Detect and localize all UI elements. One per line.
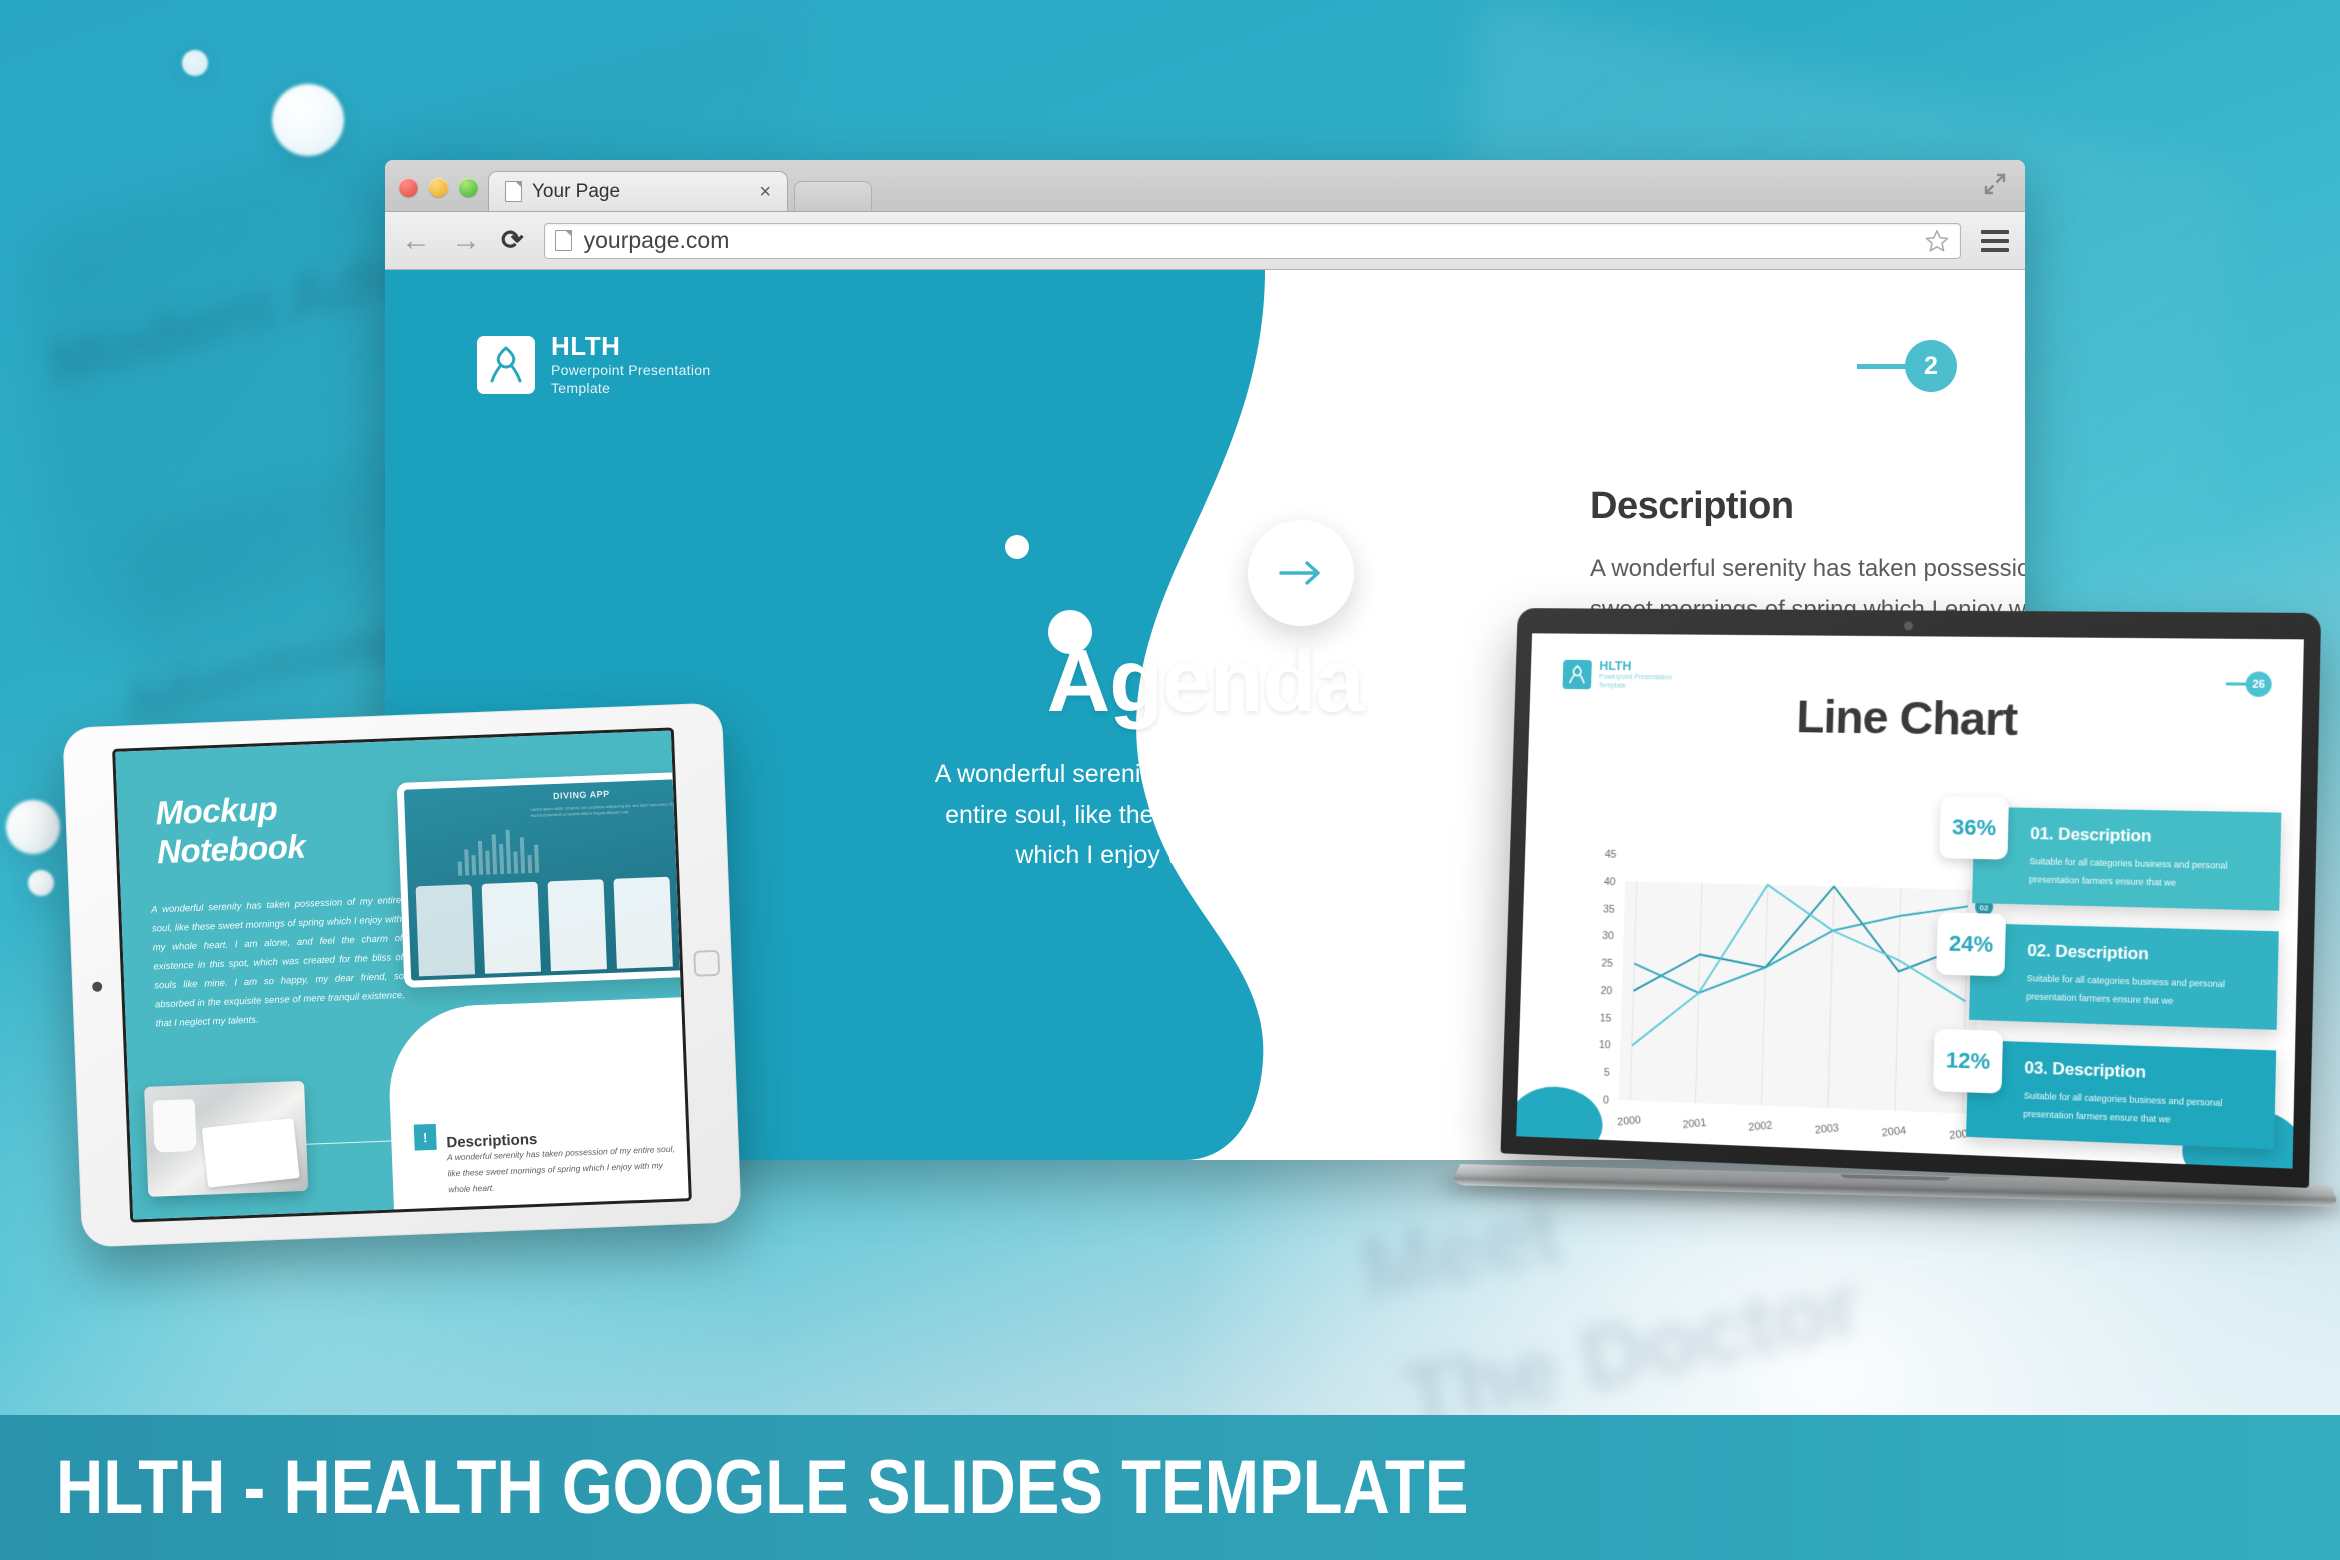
forward-button[interactable]: → [451,226,481,256]
legend-card-title: 01. Description [2030,824,2264,849]
logo-name: HLTH [1599,659,1672,674]
address-bar[interactable]: yourpage.com [544,223,1961,259]
legend-card-title: 03. Description [2024,1058,2259,1087]
mockup-notebook-slide: Mockup Notebook A wonderful serenity has… [115,731,689,1220]
inner-phone-screen [548,879,607,971]
bokeh-circle [182,50,208,76]
legend-card-body: Suitable for all categories business and… [2029,852,2264,894]
close-icon[interactable]: × [741,182,771,202]
inner-laptop-screen: DIVING APP Lorem ipsum dolor sit amet, c… [404,779,689,981]
camera-icon [1904,621,1913,630]
reload-button[interactable]: ⟳ [501,227,524,254]
page-number-value: 26 [2245,671,2272,697]
legend-card[interactable]: 24% 02. Description Suitable for all cat… [1969,923,2279,1030]
camera-icon [92,982,102,992]
inner-phone-screen [416,884,475,976]
inner-phone-screen [613,877,672,969]
y-tick-label: 20 [1600,985,1612,997]
slide-logo: HLTH Powerpoint Presentation Template [477,332,710,398]
laptop-lid: HLTH Powerpoint Presentation Template Li… [1501,608,2322,1188]
ribbon-logo-icon [1562,660,1591,689]
browser-toolbar: ← → ⟳ yourpage.com [385,212,2025,270]
banner-title: HLTH - HEALTH GOOGLE SLIDES TEMPLATE [56,1444,1468,1531]
decorative-circle [1048,610,1092,654]
x-tick-label: 2001 [1682,1117,1707,1132]
agenda-subtitle: A wonderful serenity has taken possessio… [925,754,1485,876]
mockup-title: Mockup Notebook [155,789,306,873]
page-number-badge: 26 [2226,671,2272,697]
y-tick-label: 45 [1605,849,1617,861]
page-file-icon [505,181,522,202]
y-tick-label: 35 [1603,903,1615,915]
x-tick-label: 2000 [1617,1114,1642,1128]
y-tick-label: 0 [1603,1094,1609,1106]
line-chart-slide: HLTH Powerpoint Presentation Template Li… [1516,633,2304,1168]
line-chart: 0510152025303540452000200120022003200420… [1569,824,2010,1166]
url-text: yourpage.com [584,227,1912,254]
browser-tab-strip: Your Page × [385,160,2025,212]
mockup-title-line2: Notebook [156,828,306,873]
description-heading: Description [1590,485,2025,528]
percent-badge: 36% [1939,796,2009,860]
bokeh-circle [272,84,344,156]
y-tick-label: 10 [1599,1039,1611,1051]
y-tick-label: 30 [1602,930,1614,942]
logo-subtitle-1: Powerpoint Presentation [551,361,710,380]
bokeh-circle [6,800,60,854]
page-number-value: 2 [1905,340,1957,392]
bottom-banner: HLTH - HEALTH GOOGLE SLIDES TEMPLATE [0,1415,2340,1560]
exclamation-badge: ! [414,1124,437,1151]
page-number-badge: 2 [1857,340,1957,392]
inner-app-subtitle: Lorem ipsum dolor sit amet, con sectetue… [530,801,680,819]
maximize-window-button[interactable] [459,178,478,197]
plot-area [1619,881,1981,1114]
chart-title: Line Chart [1529,686,2303,751]
chart-legend-cards: 36% 01. Description Suitable for all cat… [1966,807,2282,1169]
page-number-line [1857,364,1911,369]
home-button[interactable] [693,950,720,977]
legend-card-title: 02. Description [2027,941,2262,968]
tablet-device: Mockup Notebook A wonderful serenity has… [62,703,741,1248]
page-file-icon [555,230,572,251]
close-window-button[interactable] [399,178,418,197]
inner-laptop-mockup: DIVING APP Lorem ipsum dolor sit amet, c… [397,772,689,988]
browser-tab[interactable]: Your Page × [488,171,788,211]
mockup-paragraph: A wonderful serenity has taken possessio… [151,891,406,1033]
y-tick-label: 5 [1604,1067,1610,1079]
bokeh-circle [28,870,54,896]
y-tick-label: 40 [1604,876,1616,888]
logo-subtitle-2: Template [551,379,710,398]
x-tick-label: 2004 [1881,1124,1907,1139]
laptop-device: HLTH Powerpoint Presentation Template Li… [1487,599,2340,1300]
browser-tab-title: Your Page [532,181,731,203]
percent-badge: 24% [1936,912,2006,976]
bookmark-star-icon[interactable] [1924,228,1950,254]
minimize-window-button[interactable] [429,178,448,197]
inner-phone-screen [482,882,541,974]
inner-bar-chart [457,829,540,876]
legend-card[interactable]: 36% 01. Description Suitable for all cat… [1972,807,2281,911]
notebook-photo [144,1081,308,1197]
x-tick-label: 2003 [1814,1122,1839,1137]
legend-card-body: Suitable for all categories business and… [2026,969,2261,1013]
legend-card-body: Suitable for all categories business and… [2023,1086,2258,1132]
x-tick-label: 2002 [1748,1119,1773,1134]
logo-name: HLTH [551,332,710,361]
ribbon-logo-icon [477,336,535,394]
descriptions-body: A wonderful serenity has taken possessio… [447,1140,679,1197]
mockup-title-line1: Mockup [155,789,305,834]
tablet-body: Mockup Notebook A wonderful serenity has… [62,703,741,1248]
back-button[interactable]: ← [401,226,431,256]
new-tab-button[interactable] [794,181,872,211]
y-tick-label: 25 [1601,957,1613,969]
window-controls [399,178,478,211]
laptop-screen: HLTH Powerpoint Presentation Template Li… [1516,633,2304,1168]
hamburger-menu-icon[interactable] [1981,230,2009,252]
decorative-circle [1005,535,1029,559]
percent-badge: 12% [1933,1029,2003,1094]
inner-app-title: DIVING APP [553,789,610,801]
tablet-screen: Mockup Notebook A wonderful serenity has… [115,731,689,1220]
arrow-right-icon [1278,558,1324,588]
fullscreen-icon[interactable] [1983,172,2007,196]
trackpad-notch [1841,1174,1950,1180]
next-arrow-button[interactable] [1248,520,1354,626]
legend-card[interactable]: 12% 03. Description Suitable for all cat… [1966,1040,2276,1149]
y-tick-label: 15 [1600,1012,1612,1024]
